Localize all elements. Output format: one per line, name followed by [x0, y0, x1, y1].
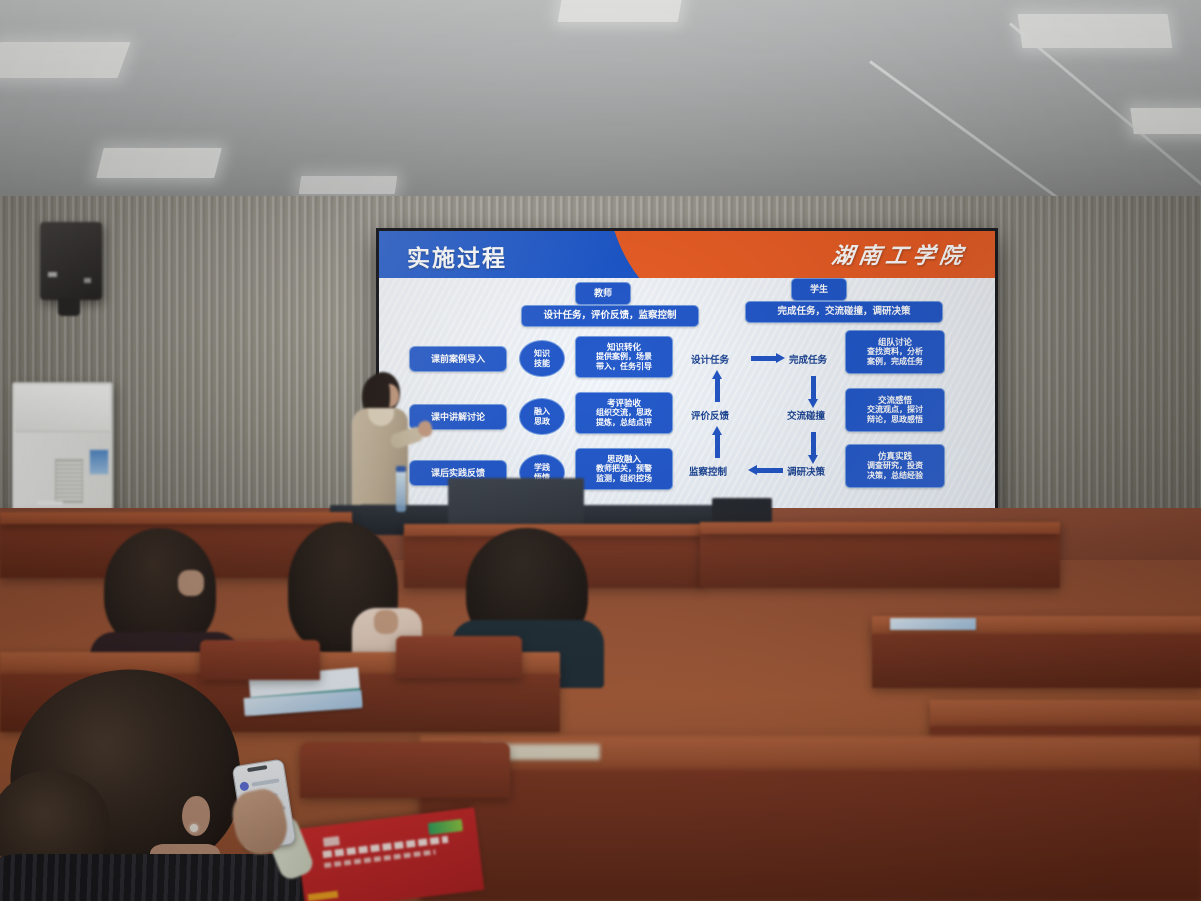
- student-activity-box-1: 组队讨论 查找资料，分析 案例，完成任务: [845, 330, 945, 374]
- chair-back-foreground: [300, 742, 510, 798]
- foreground-earring: [190, 824, 198, 832]
- student-activity-body-1: 查找资料，分析 案例，完成任务: [867, 347, 923, 367]
- competency-oval-2: 融入 思政: [519, 398, 565, 435]
- foreground-striped-top: [0, 854, 320, 901]
- arrow-up-2: [715, 434, 720, 458]
- person-1-face: [178, 570, 204, 596]
- arrow-up-1: [715, 378, 720, 402]
- teacher-action-box-1: 知识转化 提供案例，场景 带入，任务引导: [575, 336, 673, 378]
- competency-oval-1-label: 知识 技能: [534, 349, 550, 367]
- teacher-action-body-2: 组织交流，思政 提炼，总结点评: [596, 408, 652, 428]
- cycle-node-evaluation-feedback: 评价反馈: [691, 408, 729, 422]
- wall-speaker: [40, 222, 102, 300]
- ac-sticker: [89, 449, 109, 475]
- role-summary-teacher: 设计任务，评价反馈，监察控制: [521, 305, 699, 327]
- student-activity-title-1: 组队讨论: [878, 337, 912, 348]
- person-2-hand: [374, 610, 398, 634]
- phone-app-avatar: [239, 781, 249, 791]
- ac-brand-mark: [37, 501, 63, 505]
- role-summary-student: 完成任务，交流碰撞，调研决策: [745, 301, 943, 323]
- desk-right-front: [872, 634, 1201, 688]
- arrow-down-2: [811, 432, 816, 456]
- desk-back-panel: [700, 530, 1060, 588]
- role-tag-student: 学生: [791, 278, 847, 301]
- student-activity-title-2: 交流感悟: [878, 395, 912, 406]
- arrow-right-1: [751, 356, 777, 361]
- booklet-band: [308, 891, 339, 901]
- student-activity-title-3: 仿真实践: [878, 451, 912, 462]
- chair-back: [396, 636, 522, 678]
- bottle-cap: [396, 466, 406, 472]
- university-logo-text: 湖南工学院: [830, 238, 970, 270]
- ac-top-vent: [15, 385, 110, 432]
- student-activity-body-3: 调查研究，投资 决策，总结经验: [867, 461, 923, 481]
- role-tag-teacher: 教师: [575, 282, 631, 305]
- teacher-action-title-3: 思政融入: [607, 454, 641, 465]
- floor-standing-air-conditioner: [12, 382, 113, 524]
- classroom-photo-scene: 实施过程 湖南工学院 教师 设计任务，评价反馈，监察控制 学生 完成任务，交流碰…: [0, 0, 1201, 901]
- speaker-led: [48, 272, 57, 277]
- phone-notch: [247, 765, 267, 772]
- cycle-node-complete-task: 完成任务: [789, 352, 827, 366]
- audience-person-1: [82, 528, 232, 658]
- desk-foreground-front: [420, 770, 1201, 901]
- speaker-led: [84, 278, 91, 283]
- teacher-action-title-1: 知识转化: [607, 342, 641, 353]
- phone-list-row: [251, 778, 279, 786]
- water-bottle: [396, 470, 406, 512]
- cycle-node-design-task: 设计任务: [691, 352, 729, 366]
- stage-box-1: 课前案例导入: [409, 346, 507, 372]
- booklet-badge: [428, 819, 463, 835]
- cycle-node-exchange-collision: 交流碰撞: [787, 408, 825, 422]
- competency-oval-1: 知识 技能: [519, 340, 565, 377]
- arrow-left-1: [757, 468, 783, 473]
- teacher-action-body-1: 提供案例，场景 带入，任务引导: [596, 352, 652, 372]
- desk-right-paper: [890, 618, 976, 630]
- teacher-action-box-2: 考评验收 组织交流，思政 提炼，总结点评: [575, 392, 673, 434]
- student-activity-box-3: 仿真实践 调查研究，投资 决策，总结经验: [845, 444, 945, 488]
- arrow-down-1: [811, 376, 816, 400]
- desk-back-top: [700, 522, 1060, 534]
- ac-grille: [55, 459, 83, 503]
- teacher-action-body-3: 教师把关，预警 监测，组织控场: [596, 464, 652, 484]
- competency-oval-2-label: 融入 思政: [534, 407, 550, 425]
- teacher-action-box-3: 思政融入 教师把关，预警 监测，组织控场: [575, 448, 673, 490]
- cycle-node-supervision-control: 监察控制: [689, 464, 727, 478]
- cycle-node-research-decision: 调研决策: [787, 464, 825, 478]
- teacher-action-title-2: 考评验收: [607, 398, 641, 409]
- student-activity-box-2: 交流感悟 交流观点，探讨 辩论，思政感悟: [845, 388, 945, 432]
- student-activity-body-2: 交流观点，探讨 辩论，思政感悟: [867, 405, 923, 425]
- slide-title: 实施过程: [407, 239, 507, 273]
- booklet-logo: [323, 836, 340, 847]
